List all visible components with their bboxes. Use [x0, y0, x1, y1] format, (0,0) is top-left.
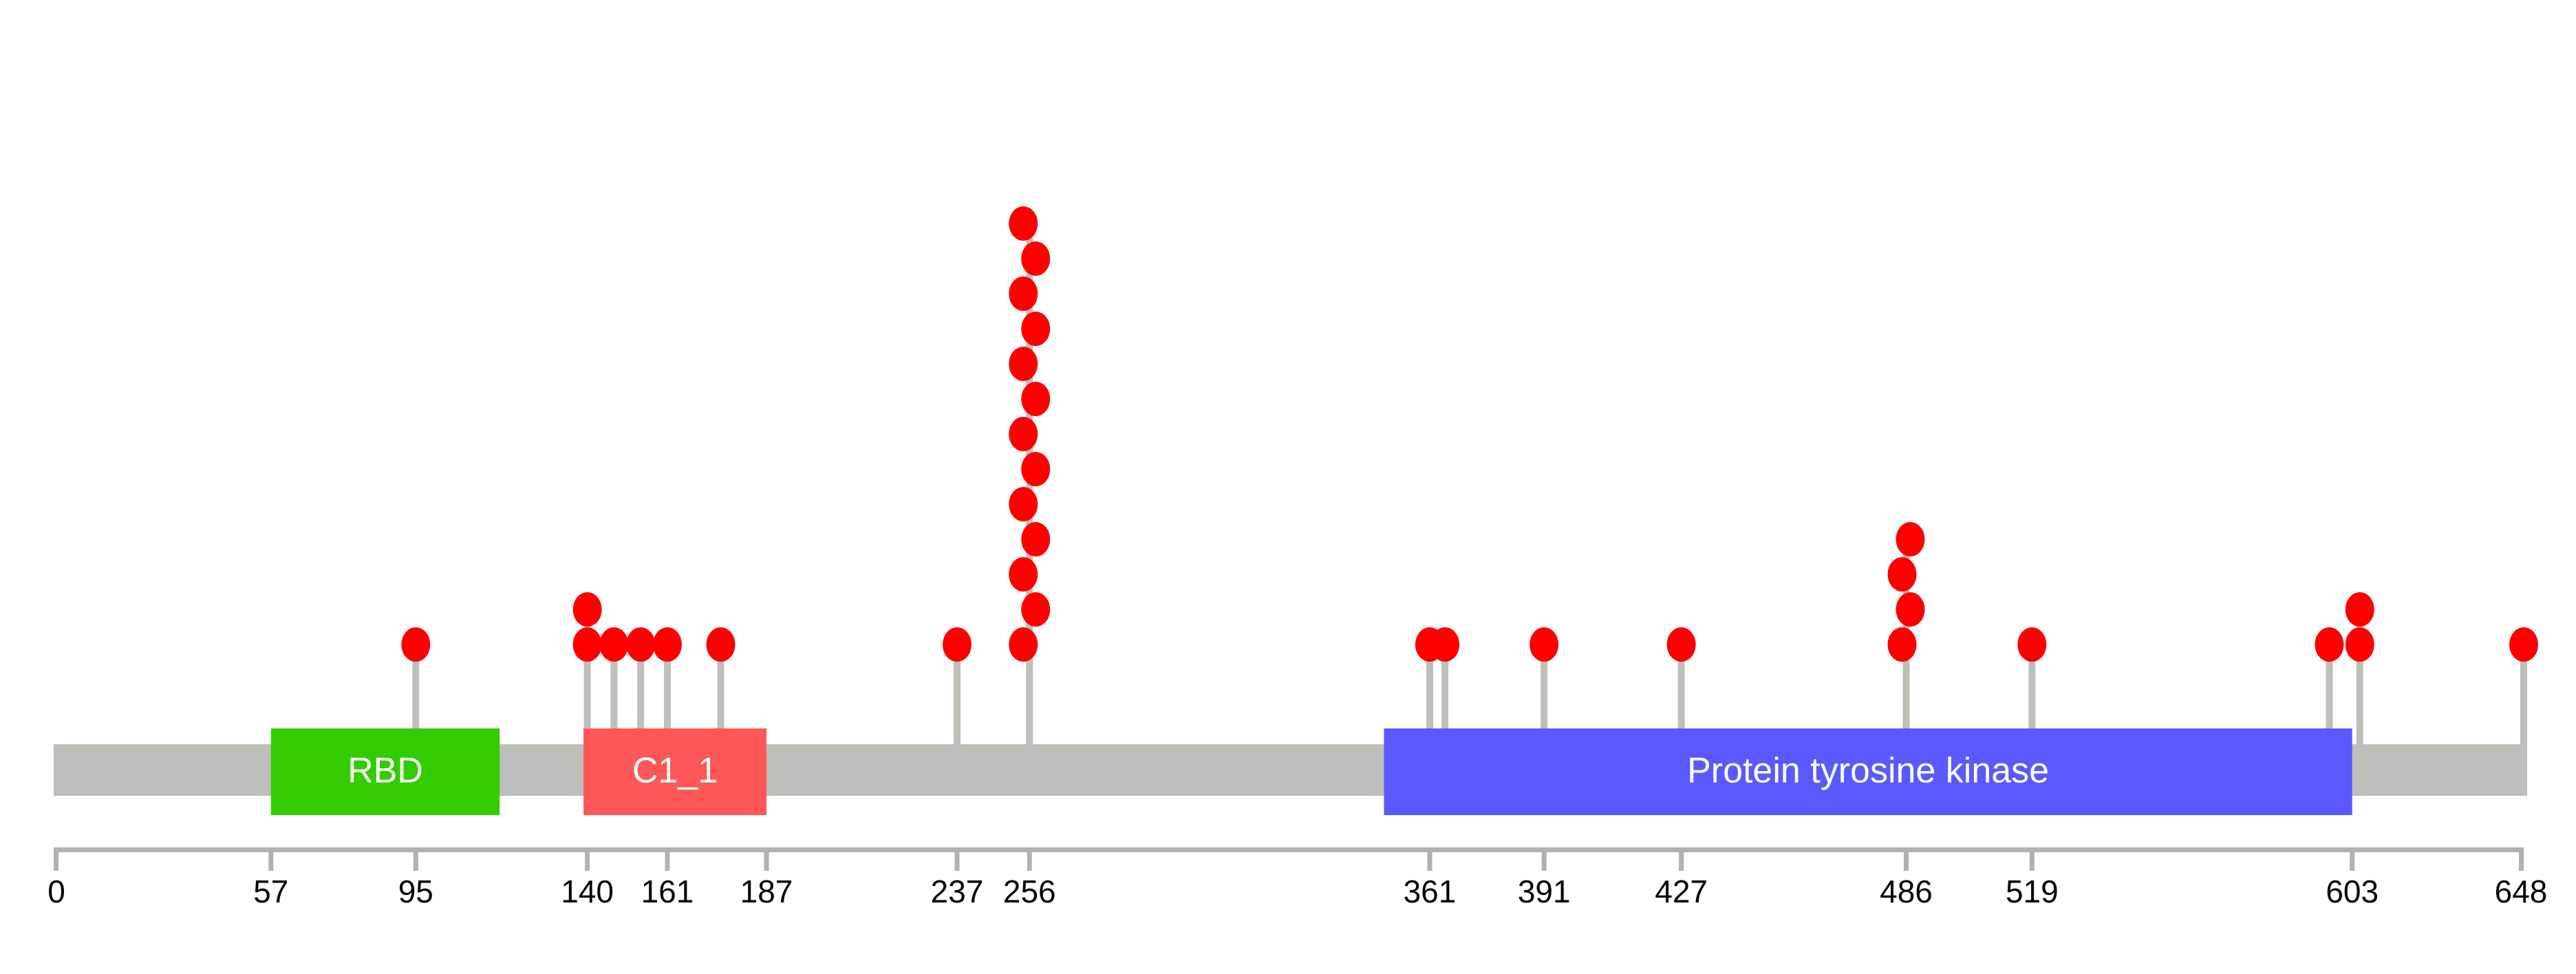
domain-label: Protein tyrosine kinase	[1687, 751, 2049, 791]
lollipop-head[interactable]	[1888, 557, 1917, 592]
lollipop-head[interactable]	[1009, 557, 1038, 592]
domain-label: RBD	[347, 751, 423, 791]
axis-tick-label: 187	[740, 874, 793, 909]
axis-tick	[955, 847, 960, 871]
axis-tick	[268, 847, 273, 871]
lollipop-head[interactable]	[2509, 627, 2538, 662]
lollipop-head[interactable]	[943, 627, 972, 662]
lollipop-head[interactable]	[707, 627, 736, 662]
lollipop-head[interactable]	[1009, 206, 1038, 241]
lollipop-plot-canvas: RBDC1_1Protein tyrosine kinase 057951401…	[0, 0, 2576, 974]
axis-tick-label: 391	[1518, 874, 1571, 909]
axis-tick	[2030, 847, 2035, 871]
axis-tick-label: 57	[253, 874, 288, 909]
lollipop-head[interactable]	[1009, 277, 1038, 311]
axis-tick	[54, 847, 58, 871]
lollipop-head[interactable]	[1896, 522, 1925, 556]
axis-tick-label: 361	[1404, 874, 1457, 909]
axis-tick	[585, 847, 590, 871]
axis-tick-labels: 0579514016118723725636139142748651960364…	[47, 874, 2547, 909]
protein-domain-box[interactable]: Protein tyrosine kinase	[1384, 728, 2352, 815]
lollipop-head[interactable]	[1021, 522, 1050, 556]
lollipop-head[interactable]	[1009, 347, 1038, 381]
lollipop-head[interactable]	[1021, 312, 1050, 346]
axis-tick	[1427, 847, 1432, 871]
axis-tick-label: 237	[931, 874, 984, 909]
lollipop-head[interactable]	[1009, 417, 1038, 451]
lollipop-head[interactable]	[2346, 627, 2374, 662]
axis-tick	[414, 847, 418, 871]
lollipop-head[interactable]	[1021, 592, 1050, 627]
axis-tick-label: 95	[398, 874, 433, 909]
axis-tick	[1679, 847, 1684, 871]
lollipop-head[interactable]	[1888, 627, 1917, 662]
lollipop-head[interactable]	[1009, 487, 1038, 521]
position-axis-ruler	[54, 847, 2524, 871]
axis-tick-label: 140	[561, 874, 614, 909]
axis-baseline	[54, 847, 2524, 852]
axis-tick-label: 256	[1003, 874, 1056, 909]
axis-tick-label: 519	[2006, 874, 2059, 909]
protein-domain-box[interactable]: C1_1	[583, 728, 766, 815]
lollipop-head[interactable]	[2017, 627, 2046, 662]
lollipop-stems-and-heads	[401, 206, 2538, 796]
lollipop-head[interactable]	[1667, 627, 1696, 662]
lollipop-head[interactable]	[1021, 452, 1050, 486]
lollipop-head[interactable]	[401, 627, 430, 662]
axis-tick	[1904, 847, 1909, 871]
lollipop-head[interactable]	[1021, 241, 1050, 276]
axis-tick-label: 427	[1655, 874, 1708, 909]
axis-tick-label: 603	[2326, 874, 2379, 909]
axis-tick-label: 161	[641, 874, 694, 909]
axis-tick-label: 648	[2495, 874, 2548, 909]
lollipop-head[interactable]	[1529, 627, 1558, 662]
axis-tick	[764, 847, 769, 871]
protein-domain-lollipop-chart: RBDC1_1Protein tyrosine kinase 057951401…	[0, 0, 2576, 974]
axis-tick	[2519, 847, 2524, 871]
protein-domain-box[interactable]: RBD	[271, 728, 500, 815]
axis-tick	[2350, 847, 2354, 871]
domain-label: C1_1	[632, 751, 718, 791]
axis-tick	[1542, 847, 1547, 871]
axis-tick-label: 486	[1880, 874, 1933, 909]
lollipop-head[interactable]	[653, 627, 682, 662]
lollipop-head[interactable]	[2346, 592, 2374, 627]
lollipop-head[interactable]	[1896, 592, 1925, 627]
lollipop-group[interactable]	[1009, 206, 1050, 796]
lollipop-head[interactable]	[1430, 627, 1459, 662]
axis-tick	[665, 847, 669, 871]
lollipop-head[interactable]	[1009, 627, 1038, 662]
lollipop-head[interactable]	[2315, 627, 2343, 662]
lollipop-head[interactable]	[1021, 382, 1050, 416]
lollipop-head[interactable]	[599, 627, 628, 662]
axis-tick	[1027, 847, 1032, 871]
axis-tick-label: 0	[47, 874, 65, 909]
lollipop-head[interactable]	[573, 592, 602, 627]
lollipop-head[interactable]	[626, 627, 655, 662]
lollipop-head[interactable]	[573, 627, 602, 662]
